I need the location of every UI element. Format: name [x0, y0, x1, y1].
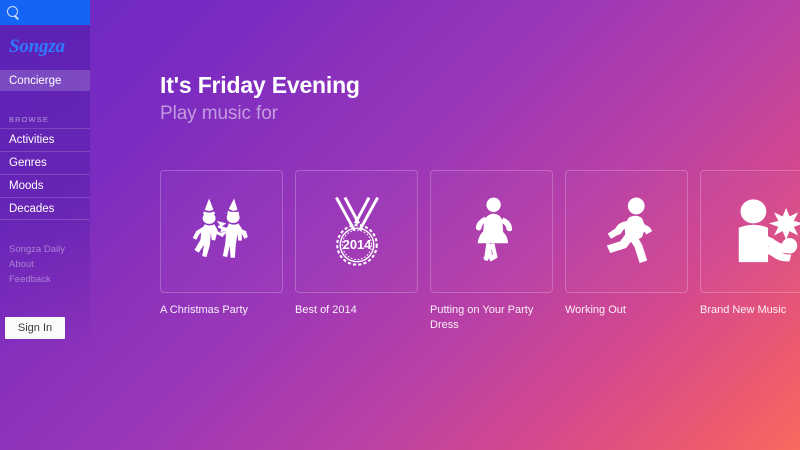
songza-logo[interactable]: Songza	[0, 25, 90, 56]
station-card-tile[interactable]: 2014	[295, 170, 418, 293]
party-dress-icon	[452, 189, 532, 275]
sidebar-footer-links: Songza Daily About Feedback	[0, 242, 90, 287]
search-bar[interactable]	[0, 0, 90, 25]
sidebar-item-label: Activities	[9, 134, 54, 146]
station-card-tile[interactable]	[430, 170, 553, 293]
songza-app: Songza Concierge BROWSE Activities Genre…	[0, 0, 800, 450]
medal-icon: 2014	[314, 189, 400, 275]
sidebar-item-activities[interactable]: Activities	[0, 128, 90, 151]
page-title: It's Friday Evening	[160, 72, 360, 99]
footer-link-feedback[interactable]: Feedback	[9, 272, 90, 287]
sidebar-item-label: Concierge	[9, 75, 61, 87]
sidebar-item-decades[interactable]: Decades	[0, 197, 90, 220]
footer-link-about[interactable]: About	[9, 257, 90, 272]
sidebar-browse-heading: BROWSE	[0, 115, 90, 124]
station-card-label: Brand New Music	[700, 303, 800, 318]
station-card-tile[interactable]	[700, 170, 800, 293]
sidebar-item-moods[interactable]: Moods	[0, 174, 90, 197]
main-content: It's Friday Evening Play music for	[160, 0, 800, 450]
party-dancers-icon	[179, 189, 265, 275]
station-card-best-of-2014[interactable]: 2014 Best of 2014	[295, 170, 418, 333]
station-card-tile[interactable]	[565, 170, 688, 293]
station-card-party-dress[interactable]: Putting on Your Party Dress	[430, 170, 553, 333]
page-subtitle: Play music for	[160, 103, 278, 125]
medal-year-text: 2014	[342, 237, 372, 252]
station-card-brand-new-music[interactable]: Brand New Music	[700, 170, 800, 333]
runner-icon	[585, 190, 669, 274]
new-release-icon	[719, 189, 800, 275]
station-card-list: A Christmas Party 201	[160, 170, 800, 333]
sidebar-item-label: Genres	[9, 157, 47, 169]
station-card-a-christmas-party[interactable]: A Christmas Party	[160, 170, 283, 333]
sign-in-button[interactable]: Sign In	[5, 317, 65, 339]
sidebar: Songza Concierge BROWSE Activities Genre…	[0, 25, 90, 350]
sidebar-nav-list: Activities Genres Moods Decades	[0, 128, 90, 220]
station-card-label: Best of 2014	[295, 303, 413, 318]
footer-link-songza-daily[interactable]: Songza Daily	[9, 242, 90, 257]
station-card-working-out[interactable]: Working Out	[565, 170, 688, 333]
station-card-label: A Christmas Party	[160, 303, 278, 318]
sidebar-item-label: Moods	[9, 180, 44, 192]
station-card-label: Working Out	[565, 303, 683, 318]
station-card-tile[interactable]	[160, 170, 283, 293]
sidebar-item-label: Decades	[9, 203, 54, 215]
station-card-label: Putting on Your Party Dress	[430, 303, 548, 333]
sidebar-item-genres[interactable]: Genres	[0, 151, 90, 174]
search-input[interactable]	[7, 0, 154, 25]
sidebar-item-concierge[interactable]: Concierge	[0, 70, 90, 91]
